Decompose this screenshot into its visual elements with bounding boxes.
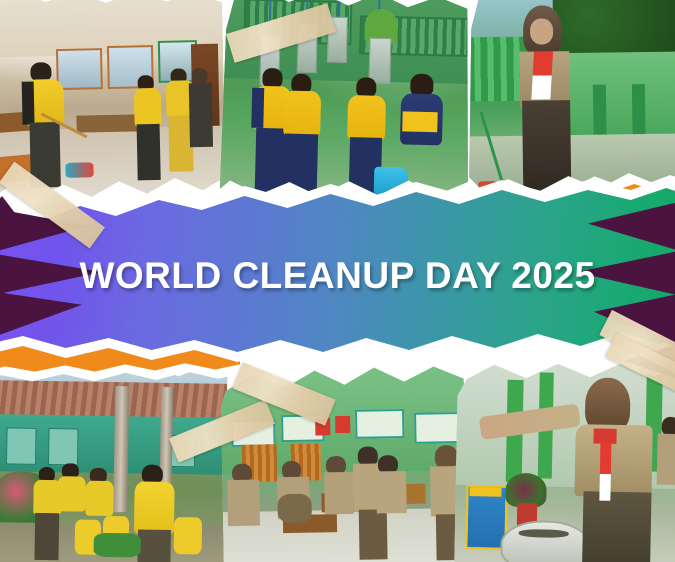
- student-shirt: [134, 482, 175, 534]
- student-sleeve: [22, 82, 34, 125]
- page-title: WORLD CLEANUP DAY 2025: [0, 255, 675, 297]
- scout-neckerchief: [599, 441, 612, 501]
- desk: [76, 114, 141, 133]
- foliage: [549, 0, 675, 57]
- scout-shirt: [227, 480, 260, 526]
- sink-basin: [500, 520, 592, 562]
- student-crouching: [173, 517, 202, 554]
- scout-trousers: [582, 492, 652, 562]
- collected-leaves: [93, 533, 140, 557]
- photo-scout-washing-sink: [454, 358, 675, 562]
- scout-shirt: [376, 471, 406, 513]
- bottle-planter: [369, 37, 392, 84]
- wall-display: [414, 412, 463, 444]
- student-shirt: [347, 95, 385, 140]
- student-body: [189, 82, 214, 147]
- student-shirt: [133, 88, 162, 127]
- student-shirt: [85, 481, 114, 516]
- tree-trunk: [113, 386, 129, 511]
- photo-image: [0, 354, 228, 562]
- photo-image: [454, 358, 675, 562]
- wall-display: [355, 409, 404, 439]
- student-bending: [277, 494, 312, 524]
- student-trousers: [35, 513, 59, 561]
- face: [530, 19, 554, 45]
- poster-canvas: WORLD CLEANUP DAY 2025: [0, 0, 675, 562]
- student-sleeve: [251, 88, 264, 128]
- student-shirt: [57, 476, 86, 511]
- scout-shirt: [324, 472, 354, 514]
- student-trousers: [138, 529, 171, 562]
- green-wall: [562, 51, 675, 135]
- scout-trousers: [359, 509, 387, 559]
- photo-schoolyard-cleanup: [0, 354, 228, 562]
- window: [6, 428, 37, 465]
- scout-neckerchief: [531, 51, 553, 99]
- background-person-body: [656, 434, 675, 485]
- hijab: [435, 445, 458, 468]
- student-shirt-panel: [402, 111, 437, 132]
- starburst-spike: [588, 196, 675, 256]
- window: [56, 48, 103, 89]
- student-shirt: [283, 91, 321, 136]
- poster-header: [469, 487, 501, 496]
- wall-card: [335, 416, 350, 433]
- window: [48, 428, 79, 465]
